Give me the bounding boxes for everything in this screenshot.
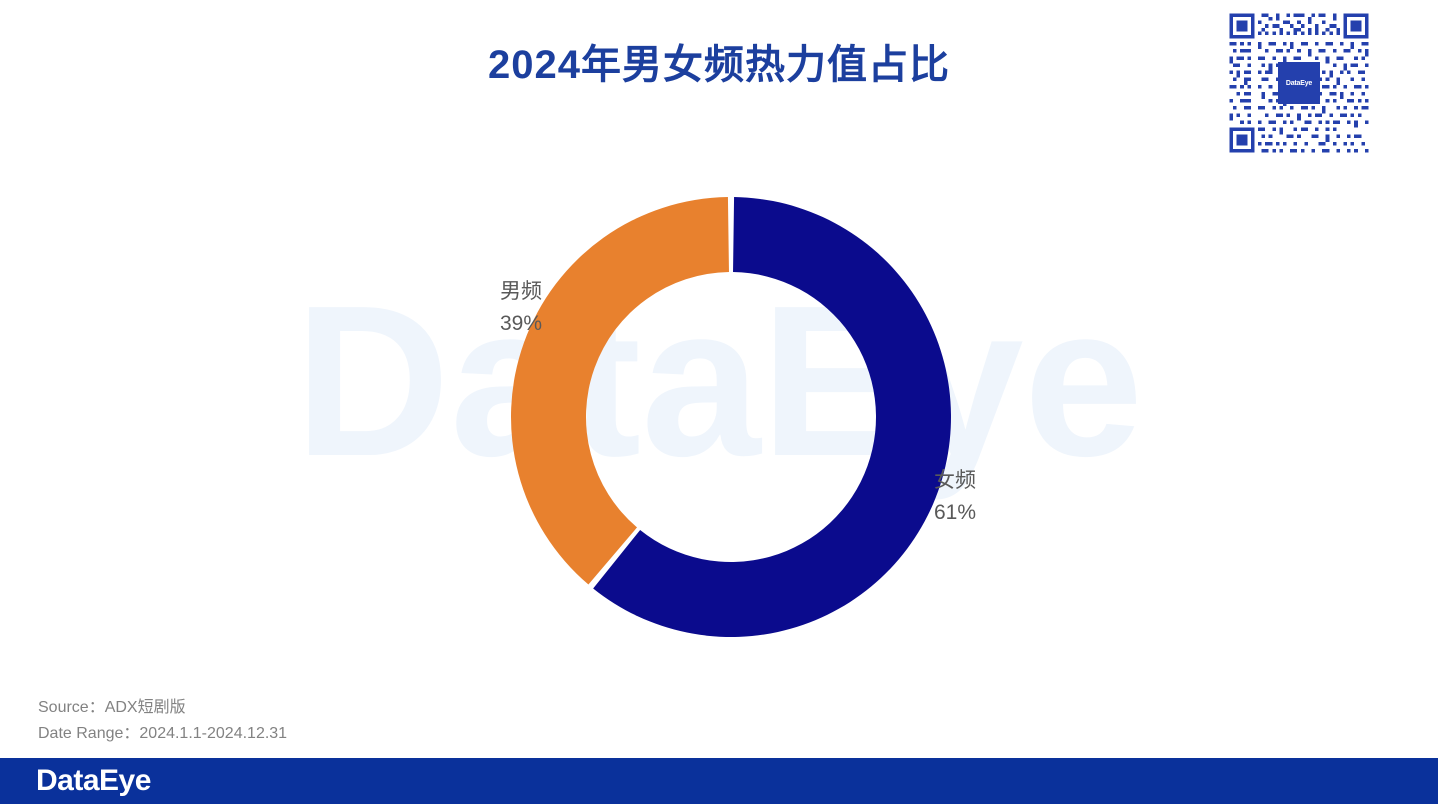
date-range-line: Date Range：2024.1.1-2024.12.31 <box>38 721 287 747</box>
dataeye-qr-code[interactable]: DataEye <box>1226 10 1372 156</box>
source-line: Source：ADX短剧版 <box>38 695 287 721</box>
slice-label-male-name: 男频 <box>500 280 542 303</box>
footer-metadata: Source：ADX短剧版 Date Range：2024.1.1-2024.1… <box>38 695 287 747</box>
chart-page: DataEye 2024年男女频热力值占比 <box>0 0 1438 804</box>
donut-chart <box>491 177 971 657</box>
slice-label-male: 男频 39% <box>500 276 542 340</box>
qr-badge-label: DataEye <box>1286 80 1312 87</box>
page-title: 2024年男女频热力值占比 <box>0 40 1438 90</box>
slice-label-female-name: 女频 <box>934 469 976 492</box>
dataeye-logo-text: DataEye <box>36 764 151 797</box>
slice-label-female: 女频 61% <box>934 465 976 529</box>
bottom-brand-bar: DataEye <box>0 758 1438 804</box>
slice-label-female-percent: 61% <box>934 497 976 529</box>
slice-label-male-percent: 39% <box>500 308 542 340</box>
dataeye-logo: DataEye <box>36 764 228 798</box>
qr-center-logo-badge: DataEye <box>1278 62 1320 104</box>
donut-slice-male[interactable] <box>511 197 729 585</box>
